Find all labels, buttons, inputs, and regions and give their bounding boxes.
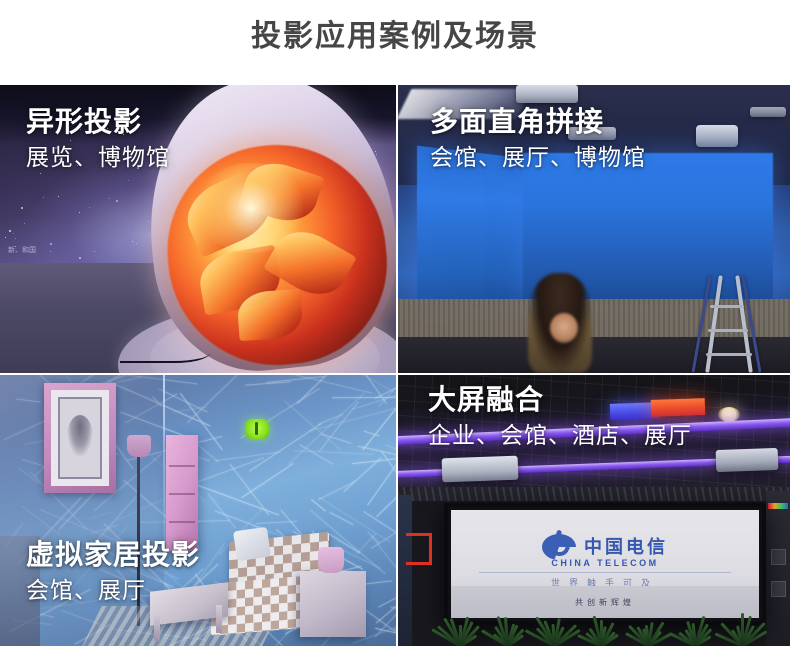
left-side-wall: [398, 495, 412, 646]
case-panel-multi-face-splicing[interactable]: 多面直角拼接 会馆、展厅、博物馆: [398, 85, 790, 373]
panel-caption-irregular-projection: 异形投影 展览、博物馆: [26, 105, 170, 173]
right-side-wall: [766, 491, 790, 646]
side-cabinet: [300, 571, 366, 637]
table-leg: [216, 605, 222, 633]
wall-caption-text: 新、和国: [8, 245, 36, 255]
caption-subtitle: 会馆、展厅: [26, 574, 200, 606]
caption-title: 多面直角拼接: [430, 105, 646, 139]
caption-subtitle: 展览、博物馆: [26, 141, 170, 173]
ceiling-projector: [516, 85, 578, 103]
ceiling-truss: [398, 487, 790, 501]
caption-subtitle: 会馆、展厅、博物馆: [430, 141, 646, 173]
case-panel-virtual-home-projection[interactable]: 虚拟家居投影 会馆、展厅: [0, 375, 396, 646]
table-leg: [154, 613, 160, 641]
page-title: 投影应用案例及场景: [251, 18, 539, 56]
wall-panel-box: [771, 581, 786, 597]
caption-title: 异形投影: [26, 105, 170, 139]
caption-subtitle: 企业、会馆、酒店、展厅: [428, 419, 692, 451]
frame-mat: [51, 390, 109, 486]
ceiling-projector: [442, 456, 519, 483]
screen-divider: [479, 572, 731, 573]
green-tree-badge-icon: [245, 419, 269, 439]
wall-color-strip: [768, 503, 788, 509]
pink-bookshelf: [166, 435, 198, 551]
frame-artwork: [58, 397, 102, 479]
ceiling-projector: [696, 125, 738, 147]
caption-title: 虚拟家居投影: [26, 538, 200, 572]
wall-panel-box: [771, 549, 786, 565]
wall-picture-frame: [44, 383, 116, 493]
page-header: 投影应用案例及场景: [0, 0, 790, 85]
panel-caption-virtual-home-projection: 虚拟家居投影 会馆、展厅: [26, 538, 200, 606]
projection-screen: 中国电信 CHINA TELECOM 世界触手可及 共创新辉煌: [451, 510, 759, 618]
panel-caption-large-screen-fusion: 大屏融合 企业、会馆、酒店、展厅: [428, 383, 692, 451]
wall-corner-edge: [163, 375, 165, 555]
promo-page: 投影应用案例及场景 新、和国: [0, 0, 790, 646]
case-panel-large-screen-fusion[interactable]: 中国电信 CHINA TELECOM 世界触手可及 共创新辉煌 大屏融合 企业、…: [398, 375, 790, 646]
china-telecom-logo-icon: [542, 534, 576, 560]
telecom-logo-row: 中国电信: [451, 534, 759, 560]
decorative-plants: [438, 604, 768, 646]
ceiling-projector: [750, 107, 786, 117]
person-face: [550, 313, 578, 343]
sofa-pillow: [233, 527, 271, 561]
panel-caption-multi-face-splicing: 多面直角拼接 会馆、展厅、博物馆: [430, 105, 646, 173]
artwork-plant-motif: [67, 415, 93, 457]
power-cable: [120, 337, 210, 363]
red-corner-marker: [406, 533, 432, 565]
ceiling-projector: [716, 448, 779, 472]
case-grid: 新、和国 异形投影 展览、博物馆: [0, 85, 790, 646]
caption-title: 大屏融合: [428, 383, 692, 417]
case-panel-irregular-projection[interactable]: 新、和国 异形投影 展览、博物馆: [0, 85, 396, 373]
cabinet-vase: [318, 547, 344, 573]
step-ladder: [698, 275, 756, 373]
floor-lamp-shade: [127, 435, 151, 457]
projector-hotspot: [196, 163, 306, 253]
brand-name-en: CHINA TELECOM: [451, 558, 759, 568]
brand-name-cn: 中国电信: [584, 537, 668, 557]
